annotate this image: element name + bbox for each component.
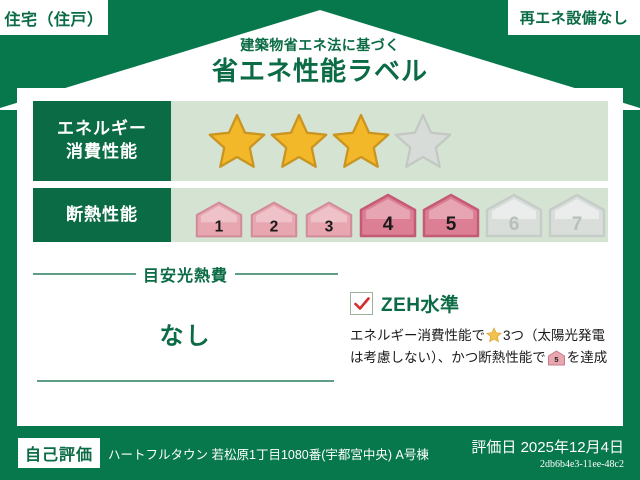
zeh-panel: ZEH水準 エネルギー消費性能で3つ（太陽光発電は考慮しない）、かつ断熱性能で5… [338, 258, 608, 408]
star-rating [171, 111, 454, 171]
evaluation-date: 評価日 2025年12月4日 [471, 439, 624, 456]
house-grade-number: 1 [215, 218, 224, 235]
utility-cost-panel: 目安光熱費 なし [33, 258, 338, 408]
rating-rows: エネルギー 消費性能 断熱性能 1234567 [33, 101, 608, 249]
zeh-checkbox [350, 292, 373, 315]
energy-label-line2: 消費性能 [66, 141, 138, 164]
utility-cost-bottom-rule [37, 380, 334, 382]
zeh-desc-part4: を達成 [567, 350, 608, 365]
evaluation-id: 2db6b4e3-11ee-48c2 [471, 459, 624, 470]
house-badge-icon: 5 [548, 350, 565, 366]
insulation-grade-scale: 1234567 [171, 193, 607, 238]
house-grade-number: 5 [446, 214, 457, 235]
utility-cost-heading-text: 目安光熱費 [143, 262, 228, 286]
house-grade-number: 4 [383, 214, 394, 235]
house-badge-number: 5 [554, 355, 558, 364]
zeh-desc-part1: エネルギー消費性能で [350, 328, 485, 343]
insulation-label-text: 断熱性能 [66, 204, 138, 227]
energy-consumption-label: エネルギー 消費性能 [33, 101, 171, 181]
energy-performance-label: 住宅（住戸） 再エネ設備なし 建築物省エネ法に基づく 省エネ性能ラベル エネルギ… [0, 0, 640, 480]
footer-bar: 自己評価 ハートフルタウン 若松原1丁目1080番(宇都宮中央) A号棟 評価日… [0, 426, 640, 480]
utility-cost-value: なし [33, 316, 338, 351]
energy-consumption-row: エネルギー 消費性能 [33, 101, 608, 181]
zeh-title: ZEH水準 [381, 290, 460, 317]
zeh-desc-part2: 3つ（太陽光発電 [503, 328, 605, 343]
energy-consumption-value [171, 101, 608, 181]
star-filled-icon [330, 111, 392, 171]
house-grade-active: 4 [358, 193, 418, 238]
star-filled-icon [206, 111, 268, 171]
self-evaluation-tag: 自己評価 [18, 438, 100, 468]
label-title: 建築物省エネ法に基づく 省エネ性能ラベル [0, 38, 640, 85]
house-grade-number: 2 [270, 218, 279, 235]
middle-section: 目安光熱費 なし ZEH水準 エネルギー消費性能で3つ（太陽光発電は考慮しない）… [33, 258, 608, 408]
insulation-label: 断熱性能 [33, 188, 171, 242]
house-grade-inactive: 7 [547, 193, 607, 238]
heading-rule-right [235, 273, 338, 275]
renewable-equipment-tag: 再エネ設備なし [508, 0, 640, 35]
star-filled-icon [268, 111, 330, 171]
house-grade-number: 3 [325, 218, 334, 235]
title-main: 省エネ性能ラベル [0, 58, 640, 85]
insulation-row: 断熱性能 1234567 [33, 188, 608, 242]
building-name: ハートフルタウン 若松原1丁目1080番(宇都宮中央) A号棟 [108, 444, 429, 463]
utility-cost-heading: 目安光熱費 [33, 262, 338, 286]
zeh-heading: ZEH水準 [350, 290, 608, 317]
zeh-desc-part3: は考慮しない）、かつ断熱性能で [350, 350, 546, 365]
house-grade-active: 5 [421, 193, 481, 238]
house-grade-active: 1 [193, 201, 245, 238]
star-empty-icon [392, 111, 454, 171]
star-icon [486, 327, 502, 343]
house-grade-inactive: 6 [484, 193, 544, 238]
evaluation-meta: 評価日 2025年12月4日 2db6b4e3-11ee-48c2 [471, 436, 624, 470]
insulation-value: 1234567 [171, 188, 608, 242]
house-grade-number: 7 [572, 214, 583, 235]
energy-label-line1: エネルギー [57, 118, 147, 141]
zeh-description: エネルギー消費性能で3つ（太陽光発電は考慮しない）、かつ断熱性能で5を達成 [350, 325, 608, 370]
building-type-tag: 住宅（住戸） [0, 0, 108, 35]
check-icon [354, 297, 370, 311]
house-grade-number: 6 [509, 214, 520, 235]
house-grade-active: 3 [303, 201, 355, 238]
title-subtitle: 建築物省エネ法に基づく [0, 38, 640, 53]
house-grade-active: 2 [248, 201, 300, 238]
heading-rule-left [33, 273, 136, 275]
